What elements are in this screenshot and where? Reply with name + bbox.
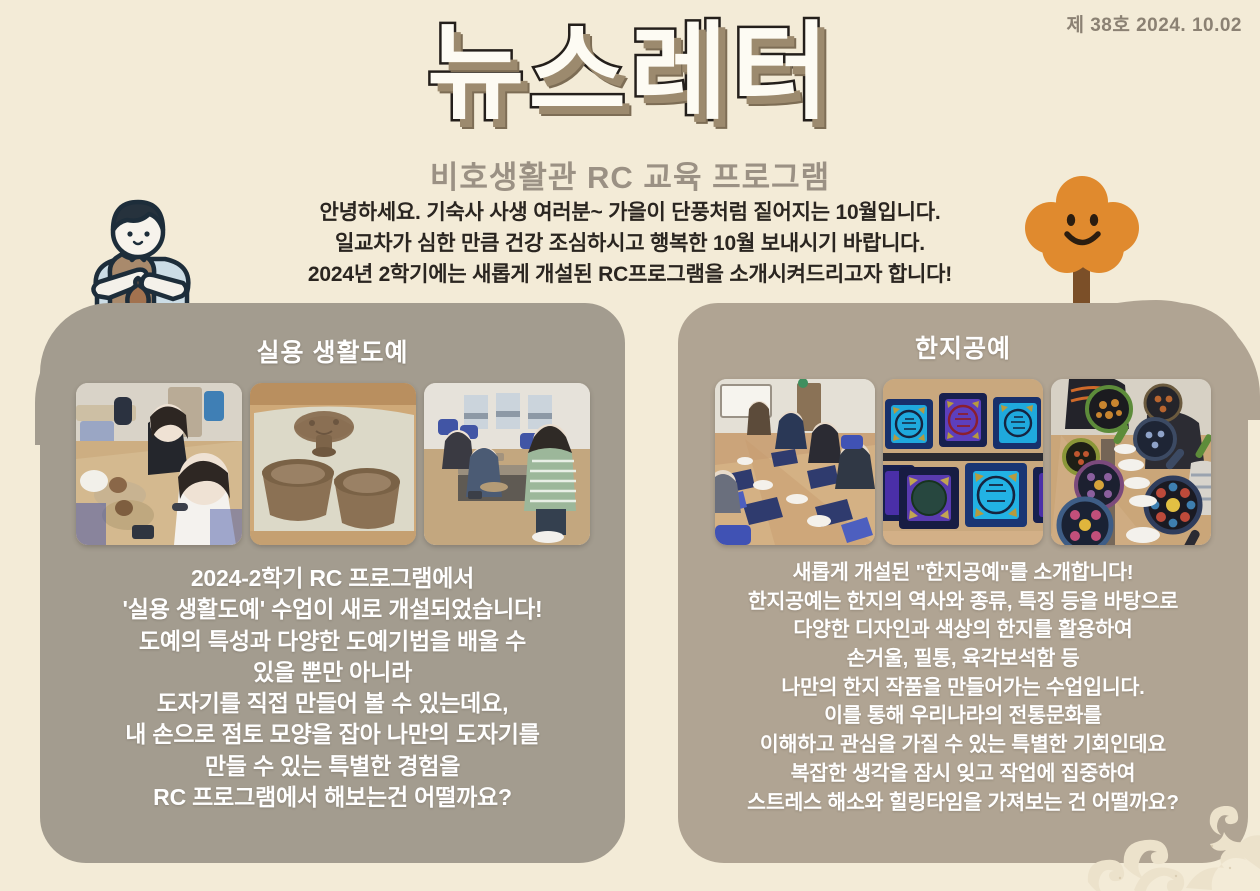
body-line: 도자기를 직접 만들어 볼 수 있는데요,: [40, 688, 625, 719]
body-line: '실용 생활도예' 수업이 새로 개설되었습니다!: [40, 594, 625, 625]
card-title-pottery: 실용 생활도예: [40, 333, 625, 369]
masthead-title: 뉴스레터: [0, 18, 1260, 129]
photo-students-shaping-clay: [76, 383, 242, 545]
card-body-hanji: 새롭게 개설된 "한지공예"를 소개합니다! 한지공예는 한지의 역사와 종류,…: [678, 559, 1248, 817]
body-line: 한지공예는 한지의 역사와 종류, 특징 등을 바탕으로: [678, 588, 1248, 617]
body-line: 복잡한 생각을 잠시 잊고 작업에 집중하여: [678, 760, 1248, 789]
program-card-hanji: 한지공예: [678, 303, 1248, 863]
photo-finished-clay-bowls: [250, 383, 416, 545]
body-line: 나만의 한지 작품을 만들어가는 수업입니다.: [678, 674, 1248, 703]
newsletter-poster: 제 38호 2024. 10.02 뉴스레터 비호생활관 RC 교육 프로그램 …: [0, 0, 1260, 891]
photo-pottery-classroom: [424, 383, 590, 545]
photo-strip-pottery: [40, 383, 625, 545]
body-line: 이를 통해 우리나라의 전통문화를: [678, 702, 1248, 731]
body-line: 다양한 디자인과 색상의 한지를 활용하여: [678, 616, 1248, 645]
body-line: 도예의 특성과 다양한 도예기법을 배울 수: [40, 626, 625, 657]
photo-hanji-class-tables: [715, 379, 875, 545]
body-line: 새롭게 개설된 "한지공예"를 소개합니다!: [678, 559, 1248, 588]
body-line: 이해하고 관심을 가질 수 있는 특별한 기회인데요: [678, 731, 1248, 760]
body-line: 2024-2학기 RC 프로그램에서: [40, 563, 625, 594]
card-body-pottery: 2024-2학기 RC 프로그램에서 '실용 생활도예' 수업이 새로 개설되었…: [40, 563, 625, 813]
body-line: RC 프로그램에서 해보는건 어떨까요?: [40, 782, 625, 813]
body-line: 만들 수 있는 특별한 경험을: [40, 751, 625, 782]
cloud-swirl-ornament-icon: [1080, 806, 1260, 891]
body-line: 내 손으로 점토 모양을 잡아 나만의 도자기를: [40, 719, 625, 750]
body-line: 손거울, 필통, 육각보석함 등: [678, 645, 1248, 674]
tree-illustration: [1015, 168, 1150, 323]
photo-strip-hanji: [678, 379, 1248, 545]
photo-hanji-decorated-fans: [1051, 379, 1211, 545]
photo-hanji-square-trays: [883, 379, 1043, 545]
program-card-pottery: 실용 생활도예: [40, 303, 625, 863]
body-line: 있을 뿐만 아니라: [40, 657, 625, 688]
card-title-hanji: 한지공예: [678, 329, 1248, 365]
